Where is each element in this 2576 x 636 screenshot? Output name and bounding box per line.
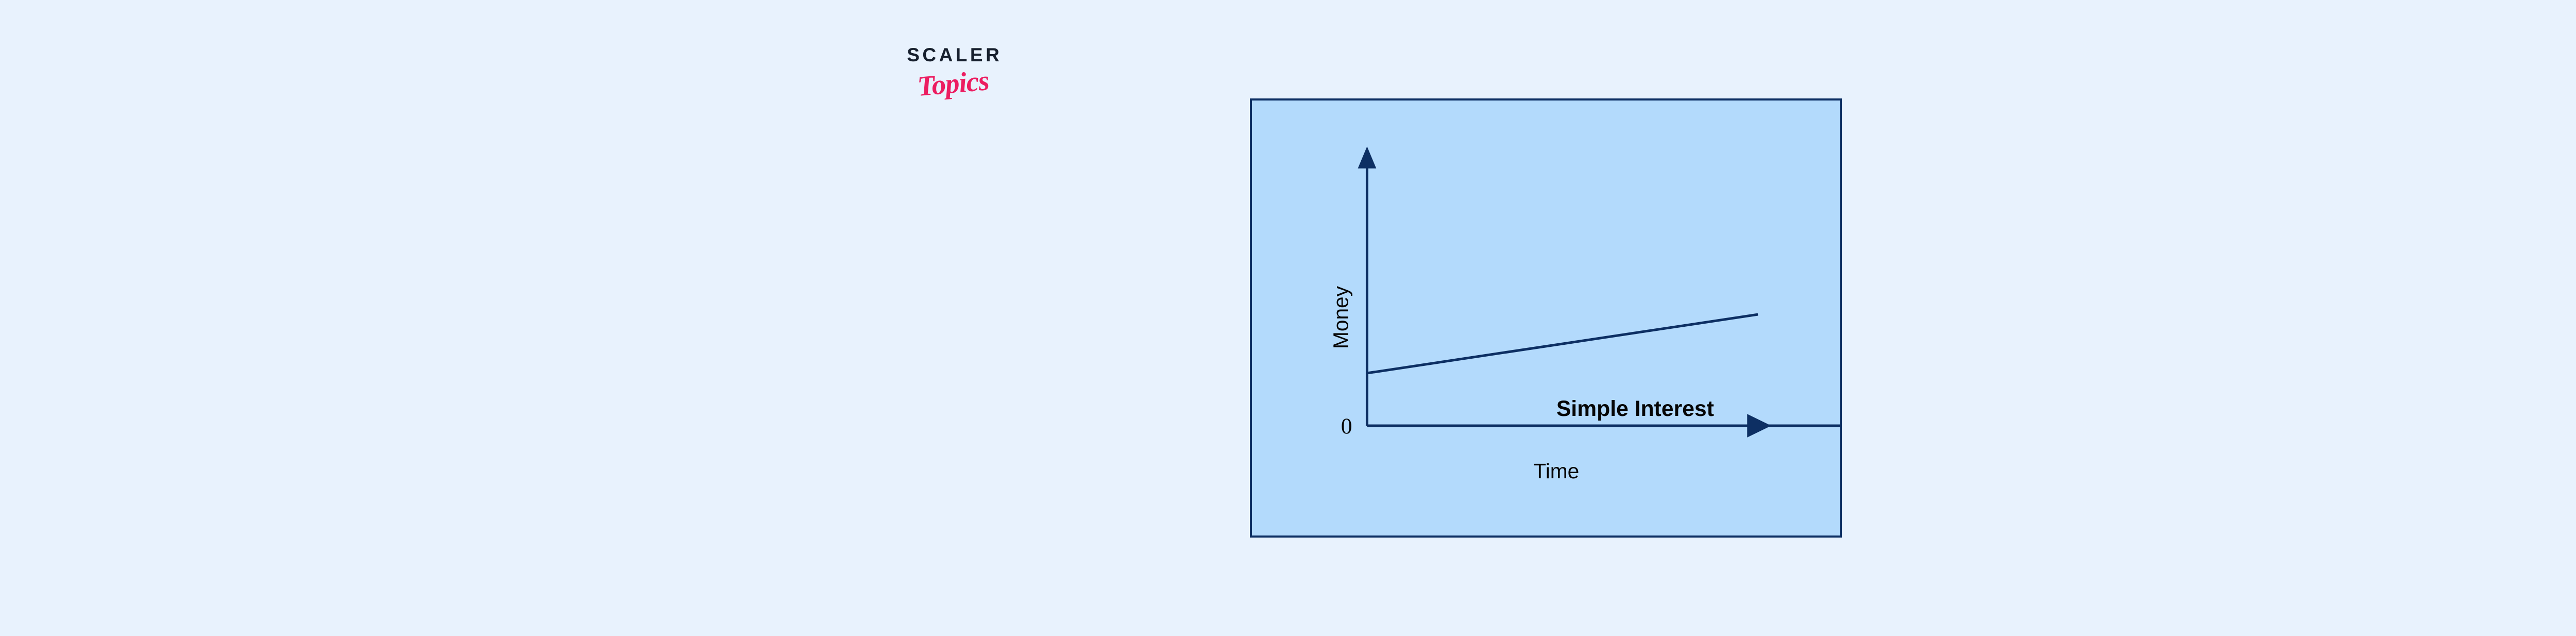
simple-interest-annotation-label: Simple Interest xyxy=(1556,396,1714,421)
y-axis-arrowhead-icon xyxy=(1358,146,1377,169)
brand-script-topics: Topics xyxy=(875,62,1031,104)
simple-interest-chart-figure: Money 0 Simple Interest Time xyxy=(1250,98,1842,538)
origin-label: 0 xyxy=(1341,414,1352,439)
simple-interest-series-line xyxy=(1367,314,1758,373)
page-canvas: SCALER Topics Money 0 Simple Interest Ti… xyxy=(0,0,2576,636)
chart-svg: Money 0 Simple Interest Time xyxy=(1252,101,1840,535)
x-axis-arrowhead-icon xyxy=(1747,414,1771,438)
brand-wordmark: SCALER xyxy=(876,45,1030,64)
scaler-topics-logo: SCALER Topics xyxy=(876,45,1030,112)
x-axis-label: Time xyxy=(1533,459,1579,483)
y-axis-label: Money xyxy=(1329,286,1353,349)
